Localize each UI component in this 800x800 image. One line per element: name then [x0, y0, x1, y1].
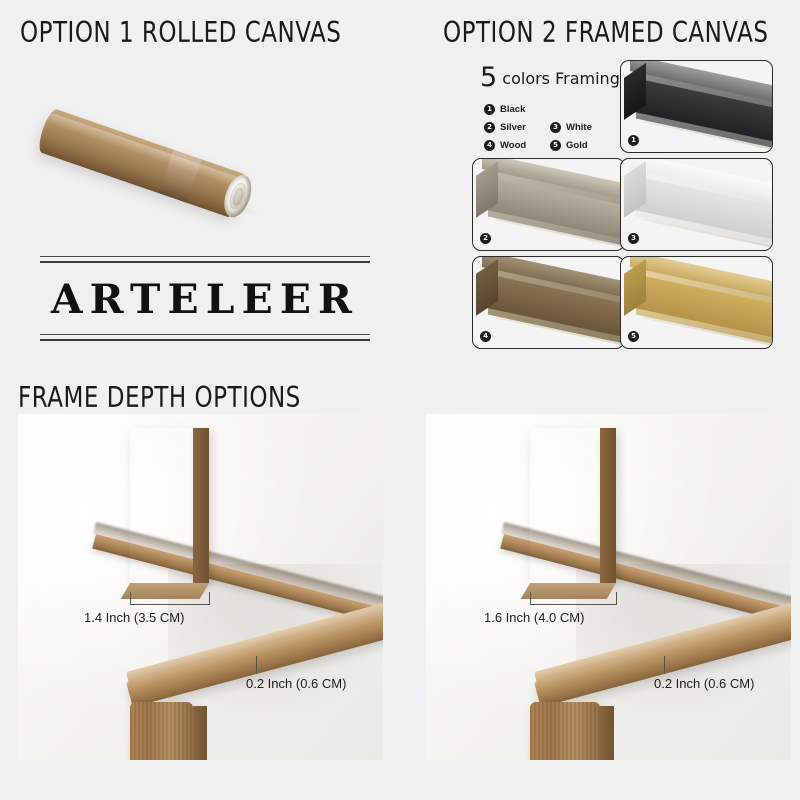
legend-item-black[interactable]: 1 Black	[484, 104, 550, 115]
frame-swatch-silver[interactable]: 2	[472, 158, 625, 251]
frame-corner-render	[624, 256, 773, 339]
dim-tick	[616, 592, 617, 605]
frame-depth-label-right: 1.6 Inch (4.0 CM)	[484, 610, 584, 625]
cardboard-tube-icon	[36, 107, 250, 219]
canvas-edge-label-right: 0.2 Inch (0.6 CM)	[654, 676, 754, 691]
framing-options-panel: 5 colors Framing 1 Black 2 Silver 3 Whit…	[472, 60, 792, 352]
frame-moulding-bottom	[121, 583, 209, 599]
depth-photo-left: 1.4 Inch (3.5 CM) 0.2 Inch (0.6 CM)	[18, 414, 383, 760]
lower-frame-moulding	[130, 702, 193, 760]
logo-rule-bottom-2	[40, 339, 370, 341]
legend-item-gold[interactable]: 5 Gold	[550, 140, 616, 151]
frame-moulding-side	[193, 428, 209, 583]
canvas-edge-label-left: 0.2 Inch (0.6 CM)	[246, 676, 346, 691]
badge-4: 4	[484, 140, 495, 151]
legend-label-silver: Silver	[500, 122, 526, 133]
lower-frame-moulding-side	[600, 706, 614, 760]
brand-name: ARTELEER	[37, 272, 374, 328]
dim-line	[530, 604, 616, 605]
frame-depth-label-left: 1.4 Inch (3.5 CM)	[84, 610, 184, 625]
frame-swatch-gold[interactable]: 5	[620, 256, 773, 349]
legend-item-white[interactable]: 3 White	[550, 122, 616, 133]
frame-moulding-front	[130, 428, 193, 583]
legend-item-wood[interactable]: 4 Wood	[484, 140, 550, 151]
swatch-badge-4: 4	[480, 331, 491, 342]
frame-swatch-wood[interactable]: 4	[472, 256, 625, 349]
frame-moulding-side	[600, 428, 616, 583]
framing-title: 5 colors Framing	[480, 62, 620, 93]
framing-count: 5	[480, 62, 497, 93]
framing-title-text: colors Framing	[502, 69, 620, 88]
badge-2: 2	[484, 122, 495, 133]
option2-heading: OPTION 2 FRAMED CANVAS	[443, 16, 768, 49]
swatch-badge-5: 5	[628, 331, 639, 342]
frame-corner-render	[624, 60, 773, 143]
swatch-badge-2: 2	[480, 233, 491, 244]
swatch-badge-3: 3	[628, 233, 639, 244]
dim-tick	[256, 656, 257, 674]
frame-depth-heading: FRAME DEPTH OPTIONS	[18, 381, 301, 414]
product-infographic: OPTION 1 ROLLED CANVAS OPTION 2 FRAMED C…	[0, 0, 800, 800]
legend-label-black: Black	[500, 104, 525, 115]
swatch-badge-1: 1	[628, 135, 639, 146]
lower-frame-moulding	[530, 702, 600, 760]
frame-corner-render	[476, 158, 625, 241]
frame-moulding-bottom	[521, 583, 616, 599]
logo-rule-top-1	[40, 256, 370, 257]
badge-1: 1	[484, 104, 495, 115]
tube-highlight	[45, 112, 247, 191]
lower-frame-moulding-side	[193, 706, 207, 760]
dim-tick	[664, 656, 665, 674]
brand-logo: ARTELEER	[40, 250, 370, 350]
legend-item-silver[interactable]: 2 Silver	[484, 122, 550, 133]
dim-line	[130, 604, 210, 605]
rolled-canvas-image	[35, 62, 285, 192]
frame-moulding-front	[530, 428, 600, 583]
legend-label-white: White	[566, 122, 592, 133]
depth-photo-right: 1.6 Inch (4.0 CM) 0.2 Inch (0.6 CM)	[426, 414, 791, 760]
logo-rule-bottom-1	[40, 334, 370, 335]
legend-label-wood: Wood	[500, 140, 526, 151]
frame-corner-render	[476, 256, 625, 339]
badge-5: 5	[550, 140, 561, 151]
dim-tick	[209, 592, 210, 605]
option1-heading: OPTION 1 ROLLED CANVAS	[20, 16, 341, 49]
badge-3: 3	[550, 122, 561, 133]
legend-label-gold: Gold	[566, 140, 588, 151]
logo-rule-top-2	[40, 261, 370, 263]
frame-swatch-white[interactable]: 3	[620, 158, 773, 251]
frame-swatch-black[interactable]: 1	[620, 60, 773, 153]
frame-corner-render	[624, 158, 773, 241]
